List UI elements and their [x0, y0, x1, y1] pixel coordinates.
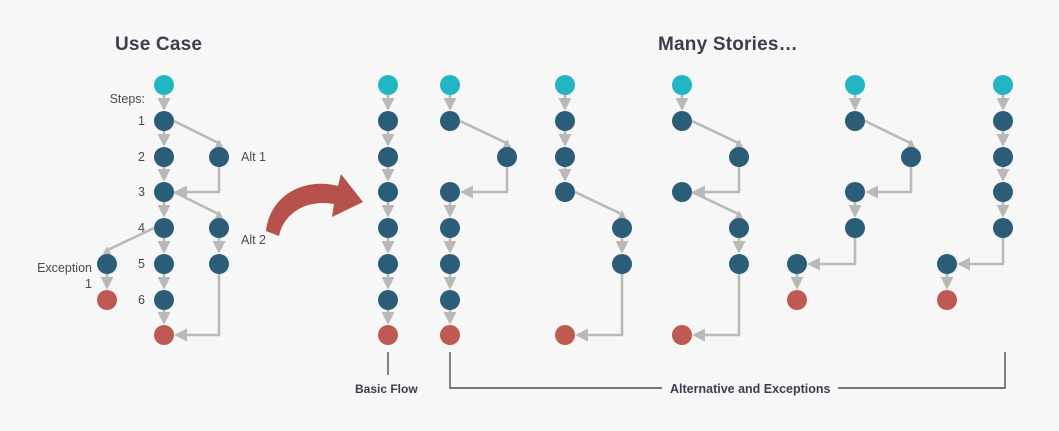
story-2-link-2 — [464, 167, 507, 192]
diagram-canvas: Use Case Many Stories… Steps: 1 2 3 4 5 … — [0, 0, 1059, 431]
story-5-link-4 — [811, 238, 855, 264]
story-3-node-3[interactable] — [555, 182, 575, 202]
use-case-node-uc-alt2a[interactable] — [209, 218, 229, 238]
story-4-link-5 — [696, 274, 739, 335]
exception-label: Exception — [10, 261, 92, 275]
story-5-node-0[interactable] — [845, 75, 865, 95]
story-2-link-1 — [460, 121, 507, 143]
story-1-basic-flow-node-4[interactable] — [378, 218, 398, 238]
story-5-node-6[interactable] — [787, 290, 807, 310]
story-1-basic-flow-node-1[interactable] — [378, 111, 398, 131]
exception-number: 1 — [10, 277, 92, 291]
flow-nodes — [97, 75, 1013, 345]
story-5-link-1 — [865, 121, 911, 143]
use-case-node-uc-alt2b[interactable] — [209, 254, 229, 274]
use-case-node-uc-alt1[interactable] — [209, 147, 229, 167]
story-1-basic-flow-node-7[interactable] — [378, 325, 398, 345]
story-3-node-4[interactable] — [612, 218, 632, 238]
story-4-node-5[interactable] — [729, 254, 749, 274]
story-2-node-2[interactable] — [497, 147, 517, 167]
story-5-node-1[interactable] — [845, 111, 865, 131]
story-4-node-3[interactable] — [672, 182, 692, 202]
use-case-node-uc-end[interactable] — [154, 325, 174, 345]
steps-label: Steps: — [60, 92, 145, 106]
story-3-node-0[interactable] — [555, 75, 575, 95]
story-4-link-3 — [692, 192, 739, 214]
story-6-link-4 — [961, 238, 1003, 264]
story-4-node-6[interactable] — [672, 325, 692, 345]
alt-2-label: Alt 2 — [241, 233, 266, 247]
use-case-node-uc-2[interactable] — [154, 147, 174, 167]
step-number-2: 2 — [100, 150, 145, 164]
story-3-node-2[interactable] — [555, 147, 575, 167]
use-case-node-uc-3[interactable] — [154, 182, 174, 202]
story-5-node-2[interactable] — [901, 147, 921, 167]
story-1-basic-flow-node-5[interactable] — [378, 254, 398, 274]
story-1-basic-flow-node-2[interactable] — [378, 147, 398, 167]
story-6-node-0[interactable] — [993, 75, 1013, 95]
story-2-node-5[interactable] — [440, 254, 460, 274]
uc-link-1-alt1 — [174, 121, 219, 143]
story-1-basic-flow-node-3[interactable] — [378, 182, 398, 202]
story-2-node-7[interactable] — [440, 325, 460, 345]
story-3-link-3 — [575, 192, 622, 214]
story-2-node-4[interactable] — [440, 218, 460, 238]
story-3-node-5[interactable] — [612, 254, 632, 274]
story-6-node-5[interactable] — [937, 254, 957, 274]
story-6-node-1[interactable] — [993, 111, 1013, 131]
story-5-node-3[interactable] — [845, 182, 865, 202]
basic-flow-label: Basic Flow — [355, 382, 418, 396]
story-2-node-3[interactable] — [440, 182, 460, 202]
story-3-node-1[interactable] — [555, 111, 575, 131]
story-4-node-1[interactable] — [672, 111, 692, 131]
curved-arrow-icon — [266, 174, 363, 236]
diagram-svg — [0, 0, 1059, 431]
uc-link-3-alt2a — [174, 192, 219, 214]
page-title-use-case: Use Case — [115, 34, 202, 56]
story-6-node-2[interactable] — [993, 147, 1013, 167]
use-case-node-uc-4[interactable] — [154, 218, 174, 238]
story-4-link-2 — [696, 167, 739, 192]
story-5-node-5[interactable] — [787, 254, 807, 274]
step-number-3: 3 — [100, 185, 145, 199]
story-3-link-5 — [579, 274, 622, 335]
story-2-node-6[interactable] — [440, 290, 460, 310]
uc-link-alt2b-end — [178, 274, 219, 335]
story-5-link-2 — [869, 167, 911, 192]
page-title-many-stories: Many Stories… — [658, 34, 798, 56]
story-6-node-4[interactable] — [993, 218, 1013, 238]
alternatives-label: Alternative and Exceptions — [662, 382, 838, 396]
use-case-node-uc-1[interactable] — [154, 111, 174, 131]
step-number-1: 1 — [100, 114, 145, 128]
alt-1-label: Alt 1 — [241, 150, 266, 164]
step-number-6: 6 — [100, 293, 145, 307]
story-4-link-1 — [692, 121, 739, 143]
story-6-node-3[interactable] — [993, 182, 1013, 202]
story-5-node-4[interactable] — [845, 218, 865, 238]
step-number-4: 4 — [100, 221, 145, 235]
story-3-node-6[interactable] — [555, 325, 575, 345]
story-4-node-0[interactable] — [672, 75, 692, 95]
step-number-5: 5 — [100, 257, 145, 271]
story-1-basic-flow-node-6[interactable] — [378, 290, 398, 310]
use-case-node-uc-6[interactable] — [154, 290, 174, 310]
story-4-node-2[interactable] — [729, 147, 749, 167]
use-case-node-uc-5[interactable] — [154, 254, 174, 274]
story-4-node-4[interactable] — [729, 218, 749, 238]
story-6-node-6[interactable] — [937, 290, 957, 310]
connector-links — [107, 95, 1003, 335]
story-1-basic-flow-node-0[interactable] — [378, 75, 398, 95]
use-case-node-uc-start[interactable] — [154, 75, 174, 95]
uc-link-alt1-3 — [178, 167, 219, 192]
story-2-node-0[interactable] — [440, 75, 460, 95]
story-2-node-1[interactable] — [440, 111, 460, 131]
